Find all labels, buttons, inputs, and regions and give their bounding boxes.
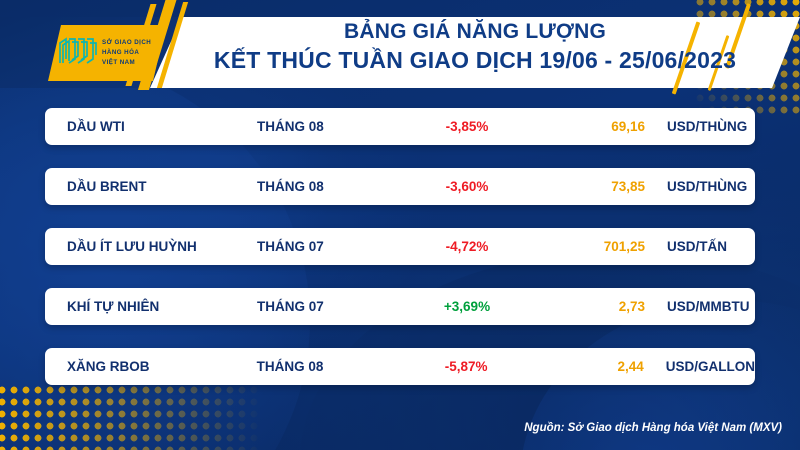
mxv-maze-logo-icon	[58, 37, 98, 70]
page-title: BẢNG GIÁ NĂNG LƯỢNG KẾT THÚC TUẦN GIAO D…	[190, 20, 760, 73]
table-row: DẦU BRENT THÁNG 08 -3,60% 73,85 USD/THÙN…	[45, 168, 755, 205]
price-table: DẦU WTI THÁNG 08 -3,85% 69,16 USD/THÙNG …	[0, 108, 800, 385]
table-row: DẦU ÍT LƯU HUỲNH THÁNG 07 -4,72% 701,25 …	[45, 228, 755, 265]
commodity-name: KHÍ TỰ NHIÊN	[45, 299, 257, 314]
commodity-name: DẦU WTI	[45, 119, 257, 134]
mxv-logo-text: SỞ GIAO DỊCH HÀNG HÓA VIỆT NAM	[102, 38, 151, 69]
table-row: KHÍ TỰ NHIÊN THÁNG 07 +3,69% 2,73 USD/MM…	[45, 288, 755, 325]
title-line-2: KẾT THÚC TUẦN GIAO DỊCH 19/06 - 25/06/20…	[190, 47, 760, 73]
contract-month: THÁNG 08	[257, 359, 407, 374]
title-line-1: BẢNG GIÁ NĂNG LƯỢNG	[190, 20, 760, 44]
price-value: 69,16	[527, 119, 645, 134]
price-value: 2,44	[526, 359, 644, 374]
change-percent: -5,87%	[406, 359, 526, 374]
price-unit: USD/TẤN	[645, 239, 755, 254]
change-percent: -4,72%	[407, 239, 527, 254]
price-value: 73,85	[527, 179, 645, 194]
change-percent: -3,60%	[407, 179, 527, 194]
commodity-name: XĂNG RBOB	[45, 359, 257, 374]
contract-month: THÁNG 07	[257, 299, 407, 314]
change-percent: -3,85%	[407, 119, 527, 134]
mxv-logo-line-3: VIỆT NAM	[102, 59, 135, 66]
table-row: DẦU WTI THÁNG 08 -3,85% 69,16 USD/THÙNG	[45, 108, 755, 145]
price-value: 2,73	[527, 299, 645, 314]
table-row: XĂNG RBOB THÁNG 08 -5,87% 2,44 USD/GALLO…	[45, 348, 755, 385]
mxv-logo-line-1: SỞ GIAO DỊCH	[102, 39, 151, 46]
price-unit: USD/MMBTU	[645, 299, 755, 314]
commodity-name: DẦU BRENT	[45, 179, 257, 194]
price-unit: USD/GALLON	[644, 359, 755, 374]
commodity-name: DẦU ÍT LƯU HUỲNH	[45, 239, 257, 254]
contract-month: THÁNG 07	[257, 239, 407, 254]
price-value: 701,25	[527, 239, 645, 254]
energy-price-board-poster: SỞ GIAO DỊCH HÀNG HÓA VIỆT NAM BẢNG GIÁ …	[0, 0, 800, 450]
price-unit: USD/THÙNG	[645, 179, 755, 194]
halftone-dots-bottom-left	[0, 384, 286, 450]
change-percent: +3,69%	[407, 299, 527, 314]
source-credit: Nguồn: Sở Giao dịch Hàng hóa Việt Nam (M…	[524, 422, 782, 434]
contract-month: THÁNG 08	[257, 119, 407, 134]
mxv-logo: SỞ GIAO DỊCH HÀNG HÓA VIỆT NAM	[48, 25, 166, 81]
mxv-logo-line-2: HÀNG HÓA	[102, 49, 139, 56]
price-unit: USD/THÙNG	[645, 119, 755, 134]
contract-month: THÁNG 08	[257, 179, 407, 194]
